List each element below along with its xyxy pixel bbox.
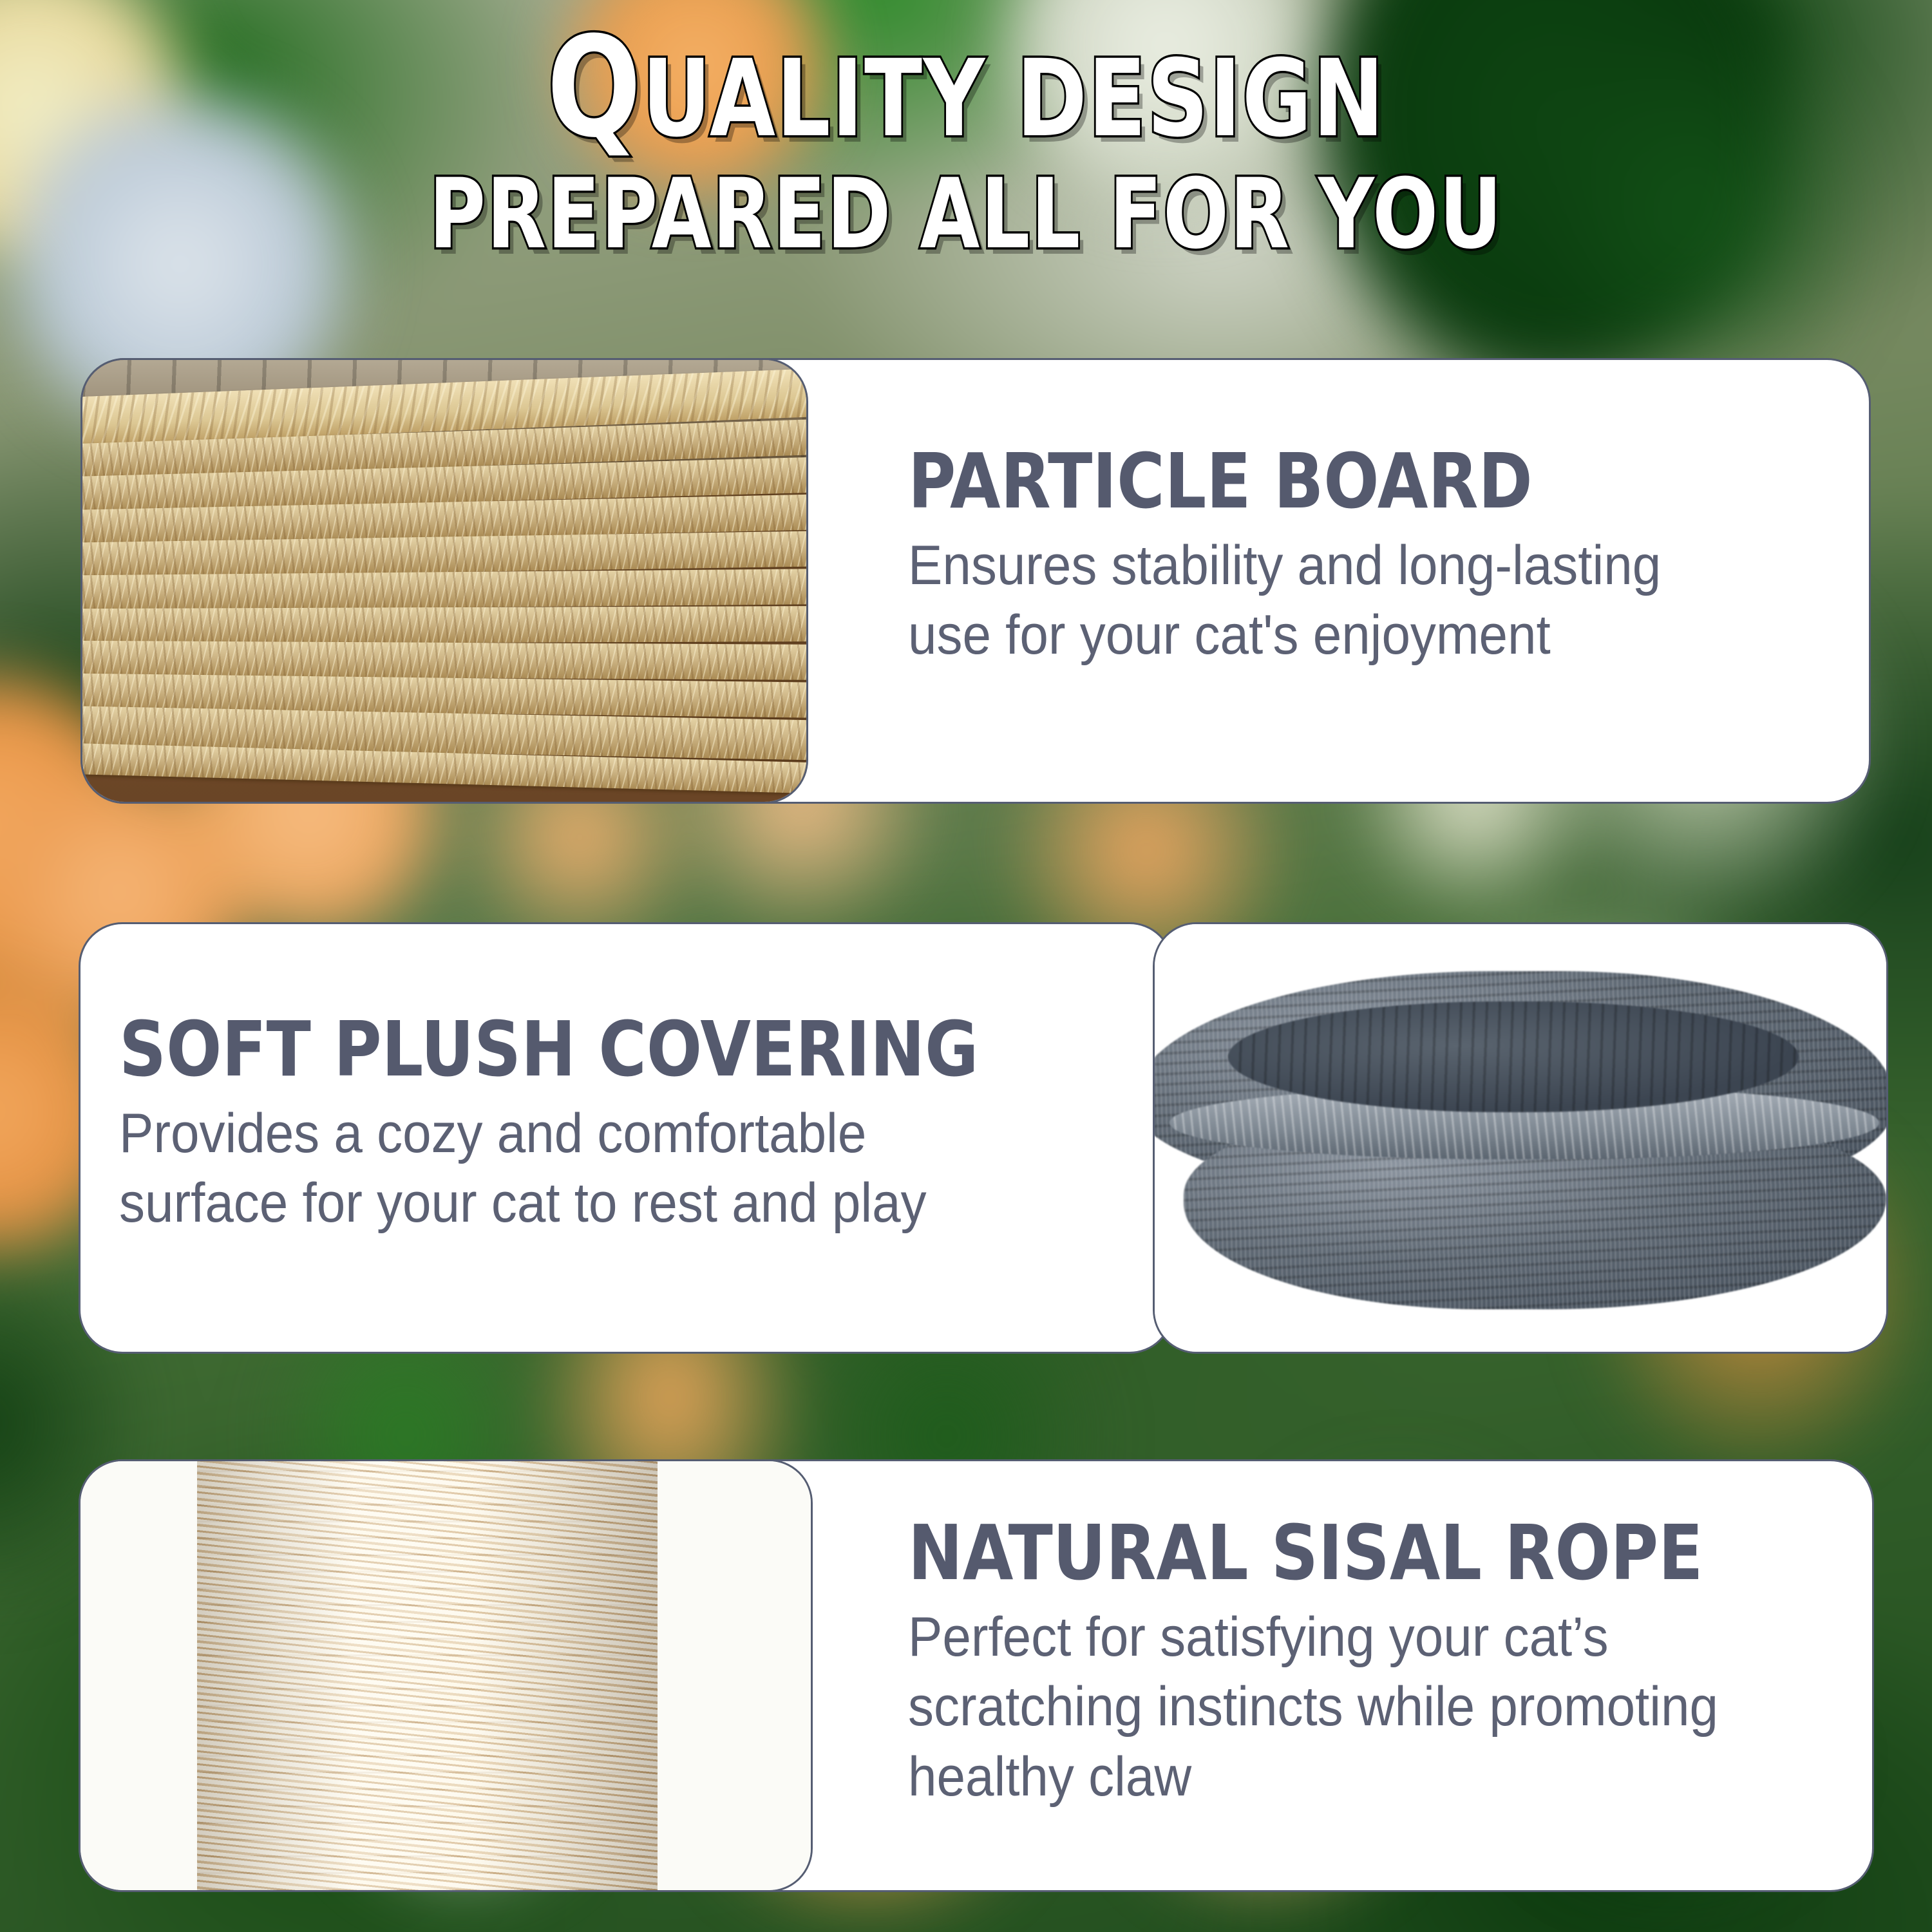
card-body-line-1: Ensures stability and long-lasting xyxy=(908,531,1765,600)
card-heading: NATURAL SISAL ROPE xyxy=(908,1515,1711,1591)
card-body-line-1: Provides a cozy and comfortable xyxy=(119,1099,1054,1168)
card-body-line-3: healthy claw xyxy=(908,1742,1777,1812)
card-body-line-2: use for your cat's enjoyment xyxy=(908,600,1765,670)
card-body-line-2: surface for your cat to rest and play xyxy=(119,1168,1054,1238)
soft-plush-covering-text: SOFT PLUSH COVERING Provides a cozy and … xyxy=(119,1011,1124,1238)
grey-plush-cat-bed-photo xyxy=(1153,922,1888,1354)
card-heading: SOFT PLUSH COVERING xyxy=(119,1011,983,1087)
header-line-1: QUALITY DESIGN xyxy=(193,17,1739,158)
card-body-line-1: Perfect for satisfying your cat’s xyxy=(908,1602,1777,1672)
header-line-1-drop-cap: Q xyxy=(547,6,642,168)
card-heading: PARTICLE BOARD xyxy=(908,443,1700,519)
particle-board-text: PARTICLE BOARD Ensures stability and lon… xyxy=(908,443,1829,670)
sisal-rope-post-photo xyxy=(79,1459,813,1892)
header-line-2: PREPARED ALL FOR YOU xyxy=(193,166,1739,264)
particle-board-photo xyxy=(80,358,808,804)
page-header: QUALITY DESIGN PREPARED ALL FOR YOU xyxy=(0,17,1932,264)
natural-sisal-rope-text: NATURAL SISAL ROPE Perfect for satisfyin… xyxy=(908,1515,1842,1812)
card-body-line-2: scratching instincts while promoting xyxy=(908,1672,1777,1741)
header-line-1-rest: UALITY DESIGN xyxy=(642,37,1385,160)
